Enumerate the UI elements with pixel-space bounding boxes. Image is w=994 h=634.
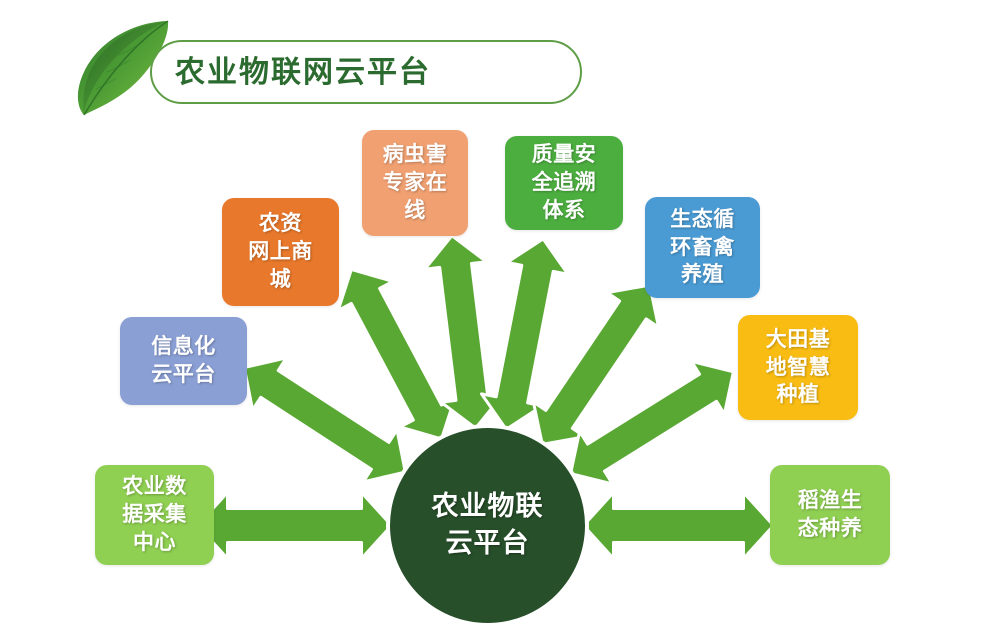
node-nongye-shuju-caiji-zhongxin[interactable]: 农业数据采集中心	[95, 465, 214, 565]
node-label: 质量安全追溯体系	[532, 141, 597, 224]
node-label-line-2: 环畜禽	[670, 234, 735, 262]
node-label: 信息化云平台	[151, 333, 216, 388]
hub-line-2: 云平台	[446, 526, 530, 562]
node-label-line-3: 养殖	[670, 261, 735, 289]
node-label-line-1: 农业数	[122, 473, 187, 501]
arrow-connector-xinxihua-yunpingtai	[198, 493, 392, 559]
node-label-line-2: 地智慧	[766, 354, 831, 382]
hub-line-1: 农业物联	[432, 489, 544, 525]
node-label-line-1: 稻渔生	[798, 487, 863, 515]
node-label-line-1: 大田基	[766, 326, 831, 354]
arrow-connector-bingchonghai-zhuanjia-zaixian	[338, 269, 455, 439]
diagram-canvas: 农业物联网云平台 农业物联 云平台 信息化云平台农资网上商城病虫害专家在线质量安…	[0, 0, 994, 634]
node-label-line-1: 信息化	[151, 333, 216, 361]
arrow-connector-nongzi-wangshang-shangcheng	[244, 358, 405, 482]
center-hub-label: 农业物联 云平台	[390, 428, 585, 623]
node-bingchonghai-zhuanjia-zaixian[interactable]: 病虫害专家在线	[362, 130, 468, 236]
node-label-line-2: 态种养	[798, 515, 863, 543]
node-nongzi-wangshang-shangcheng[interactable]: 农资网上商城	[222, 198, 339, 306]
node-datian-jidi-zhihui-zhongzhi[interactable]: 大田基地智慧种植	[738, 315, 858, 420]
arrow-connector-nongye-shuju-caiji-zhongxin	[584, 493, 774, 559]
node-shengtai-xunhuan-xuqin-yangzhi[interactable]: 生态循环畜禽养殖	[645, 197, 760, 298]
node-label-line-2: 据采集	[122, 501, 187, 529]
center-hub[interactable]: 农业物联 云平台	[390, 428, 585, 623]
node-label-line-2: 网上商	[248, 238, 313, 266]
node-label-line-3: 体系	[532, 197, 597, 225]
node-xinxihua-yunpingtai[interactable]: 信息化云平台	[120, 317, 247, 405]
node-label-line-2: 全追溯	[532, 169, 597, 197]
node-label-line-3: 城	[248, 266, 313, 294]
node-label: 生态循环畜禽养殖	[670, 206, 735, 289]
node-label-line-1: 病虫害	[383, 141, 448, 169]
node-label-line-3: 线	[383, 197, 448, 225]
node-label-line-1: 质量安	[532, 141, 597, 169]
node-label: 大田基地智慧种植	[766, 326, 831, 409]
node-label-line-3: 中心	[122, 529, 187, 557]
node-label-line-1: 农资	[248, 210, 313, 238]
node-label-line-2: 专家在	[383, 169, 448, 197]
node-label: 病虫害专家在线	[383, 141, 448, 224]
node-zhiliang-anquan-zhuisu-tixi[interactable]: 质量安全追溯体系	[505, 136, 623, 230]
node-label: 农资网上商城	[248, 210, 313, 293]
node-daoyu-shengtai-zhongyang[interactable]: 稻渔生态种养	[770, 465, 890, 565]
node-label-line-1: 生态循	[670, 206, 735, 234]
node-label-line-3: 种植	[766, 381, 831, 409]
node-label: 农业数据采集中心	[122, 473, 187, 556]
node-label: 稻渔生态种养	[798, 487, 863, 542]
node-label-line-2: 云平台	[151, 361, 216, 389]
